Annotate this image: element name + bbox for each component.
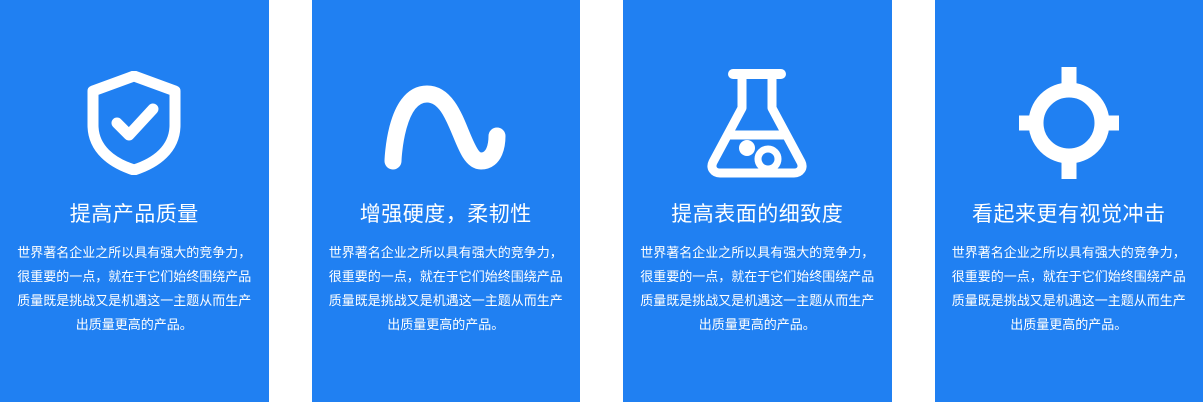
card-description: 世界著名企业之所以具有强大的竞争力，很重要的一点，就在于它们始终围绕产品质量既是… bbox=[328, 242, 564, 338]
card-title: 提高表面的细致度 bbox=[671, 200, 843, 228]
crosshair-target-icon bbox=[1017, 58, 1121, 188]
feature-card-1[interactable]: 提高产品质量 世界著名企业之所以具有强大的竞争力，很重要的一点，就在于它们始终围… bbox=[0, 0, 269, 402]
card-description: 世界著名企业之所以具有强大的竞争力，很重要的一点，就在于它们始终围绕产品质量既是… bbox=[16, 242, 252, 338]
card-title: 提高产品质量 bbox=[70, 200, 199, 228]
sine-wave-icon bbox=[383, 58, 509, 188]
feature-card-4[interactable]: 看起来更有视觉冲击 世界著名企业之所以具有强大的竞争力，很重要的一点，就在于它们… bbox=[935, 0, 1203, 402]
feature-card-grid: 提高产品质量 世界著名企业之所以具有强大的竞争力，很重要的一点，就在于它们始终围… bbox=[0, 0, 1203, 402]
flask-icon bbox=[703, 58, 811, 188]
card-description: 世界著名企业之所以具有强大的竞争力，很重要的一点，就在于它们始终围绕产品质量既是… bbox=[639, 242, 875, 338]
card-title: 增强硬度，柔韧性 bbox=[360, 200, 532, 228]
card-description: 世界著名企业之所以具有强大的竞争力，很重要的一点，就在于它们始终围绕产品质量既是… bbox=[951, 242, 1187, 338]
feature-card-3[interactable]: 提高表面的细致度 世界著名企业之所以具有强大的竞争力，很重要的一点，就在于它们始… bbox=[623, 0, 892, 402]
feature-card-2[interactable]: 增强硬度，柔韧性 世界著名企业之所以具有强大的竞争力，很重要的一点，就在于它们始… bbox=[312, 0, 581, 402]
card-title: 看起来更有视觉冲击 bbox=[972, 200, 1166, 228]
shield-check-icon bbox=[84, 58, 184, 188]
